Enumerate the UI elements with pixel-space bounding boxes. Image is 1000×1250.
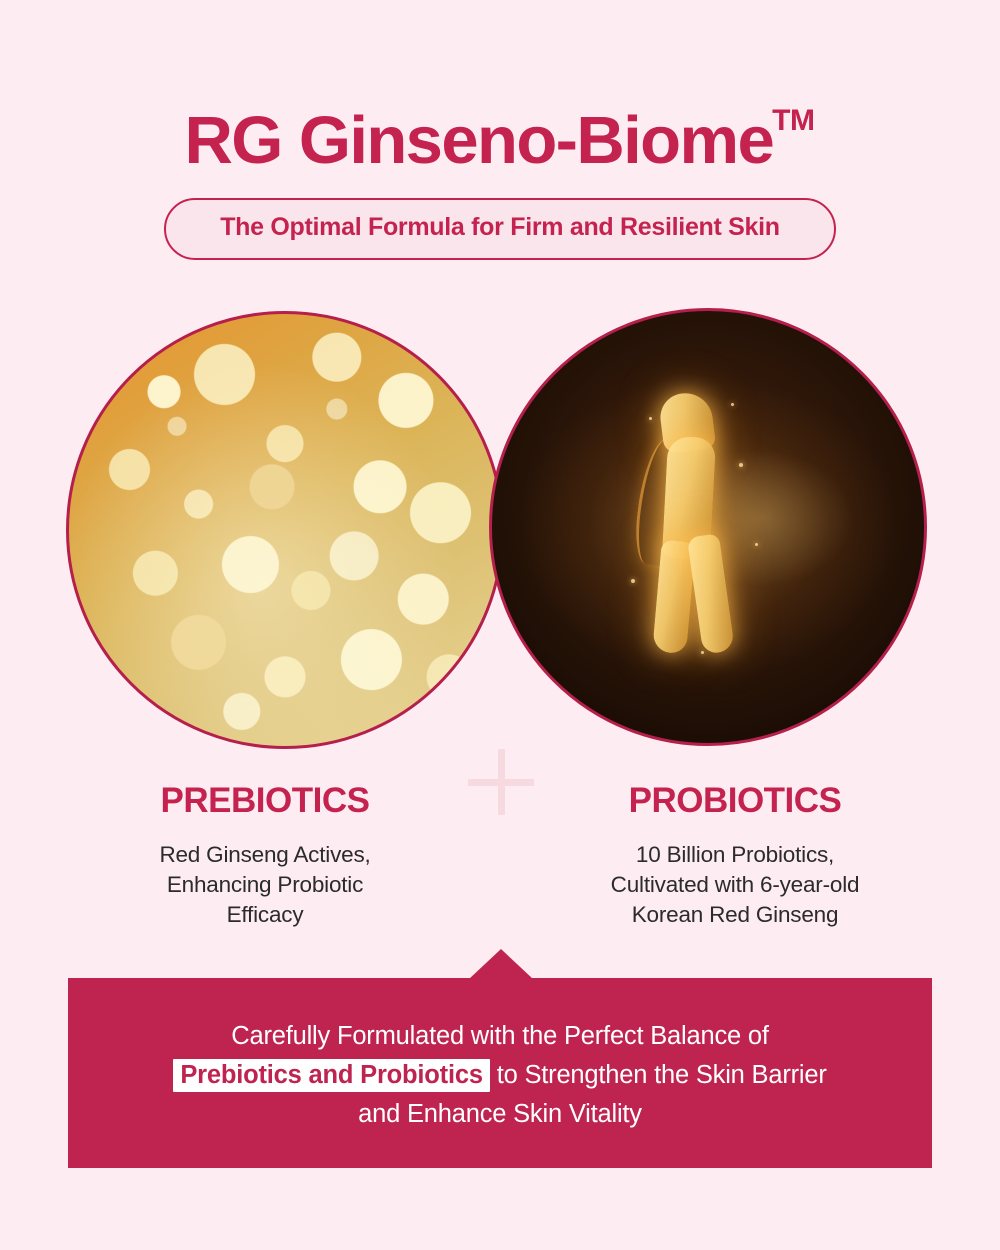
banner-arrow [469,949,533,979]
probiotics-ginseng-root-image [489,308,927,746]
plus-icon-horizontal-bar [468,779,534,786]
sparkle [631,579,635,583]
summary-line-2-tail: to Strengthen the Skin Barrier [490,1061,827,1089]
probiotics-column: PROBIOTICS 10 Billion Probiotics, Cultiv… [500,783,970,930]
subtitle-wrapper: The Optimal Formula for Firm and Resilie… [0,198,1000,260]
prebiotics-description-line: Red Ginseng Actives, [30,840,500,870]
summary-line-2: Prebiotics and Probiotics to Strengthen … [68,1056,932,1095]
subtitle-pill: The Optimal Formula for Firm and Resilie… [164,198,836,260]
probiotics-description-line: Korean Red Ginseng [500,900,970,930]
summary-line-3: and Enhance Skin Vitality [68,1095,932,1134]
ingredient-images [0,308,1000,758]
sparkle [701,651,704,654]
prebiotics-column: PREBIOTICS Red Ginseng Actives, Enhancin… [30,783,500,930]
product-ingredient-infographic: RG Ginseno-BiomeTM The Optimal Formula f… [0,0,1000,1250]
prebiotics-description-line: Efficacy [30,900,500,930]
sparkle [739,463,743,467]
prebiotics-description: Red Ginseng Actives, Enhancing Probiotic… [30,840,500,930]
page-title-text: RG Ginseno-Biome [185,103,774,178]
sparkle [731,403,734,406]
probiotics-heading: PROBIOTICS [500,783,970,818]
plus-icon [468,749,534,815]
probiotics-description-line: Cultivated with 6-year-old [500,870,970,900]
prebiotics-heading: PREBIOTICS [30,783,500,818]
prebiotics-description-line: Enhancing Probiotic [30,870,500,900]
highlight-prebiotics-probiotics: Prebiotics and Probiotics [173,1059,489,1092]
sparkle [649,417,652,420]
page-title-wrapper: RG Ginseno-BiomeTM [0,62,1000,219]
prebiotics-oil-bubbles-image [66,311,504,749]
probiotics-description-line: 10 Billion Probiotics, [500,840,970,870]
ginseng-root-graphic [643,393,773,661]
page-title: RG Ginseno-BiomeTM [185,107,816,174]
probiotics-description: 10 Billion Probiotics, Cultivated with 6… [500,840,970,930]
trademark-symbol: TM [772,104,814,137]
summary-line-1: Carefully Formulated with the Perfect Ba… [68,1017,932,1056]
root-leg-right [687,533,735,654]
sparkle [755,543,758,546]
summary-banner-text: Carefully Formulated with the Perfect Ba… [68,1017,932,1133]
